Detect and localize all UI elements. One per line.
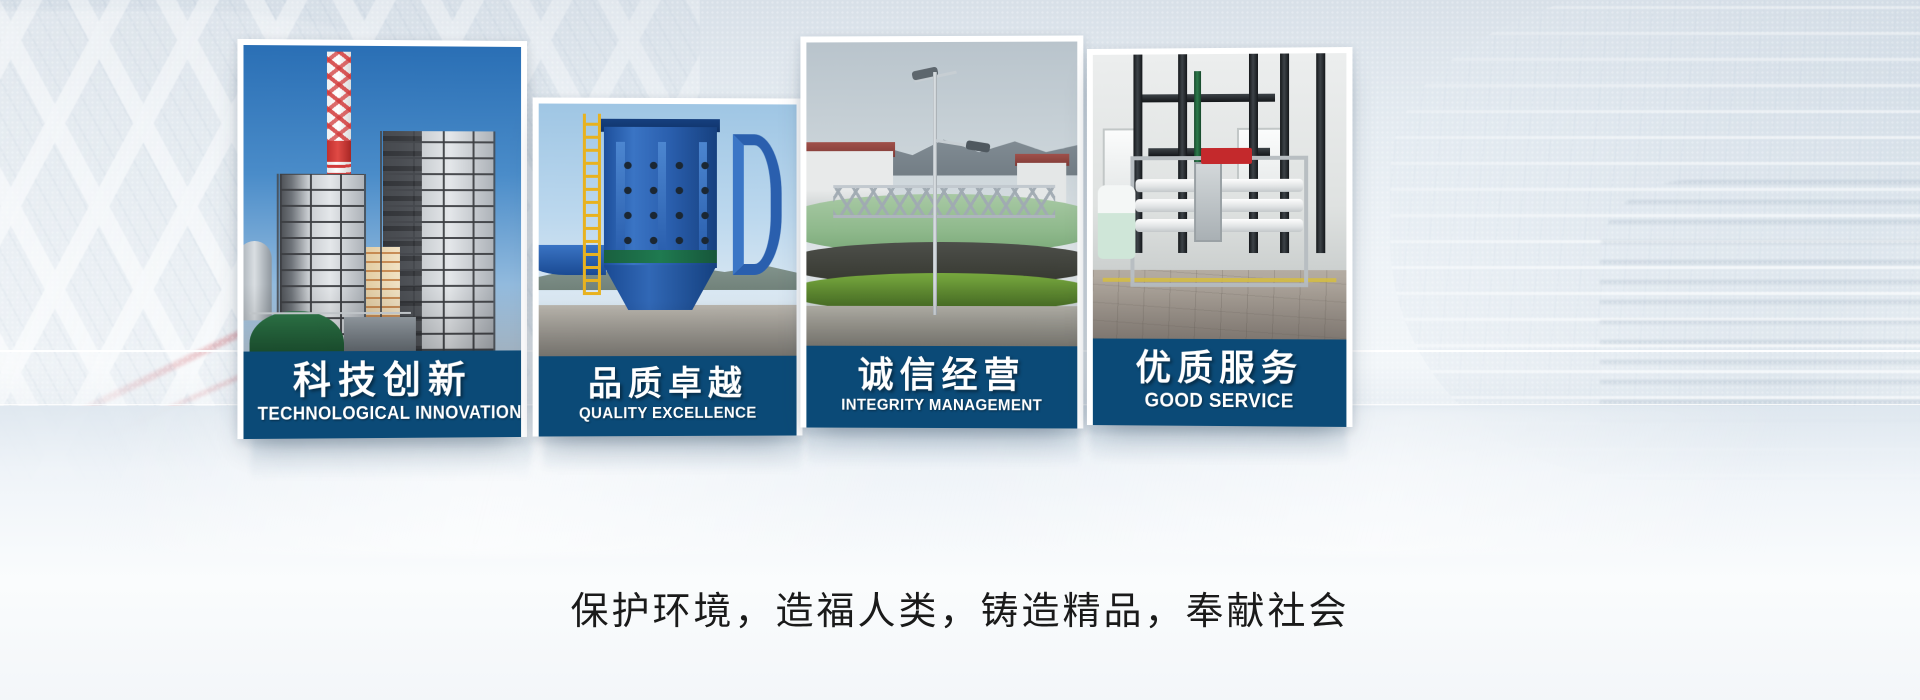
baghouse-dust-collector-photo [539,104,797,356]
grey-equipment-box [344,317,416,351]
control-panel [1194,162,1222,242]
banner-tagline: 保护环境，造福人类，铸造精品，奉献社会 [0,580,1920,635]
card-title-cn: 优质服务 [1099,347,1341,389]
value-card-good-service: 优质服务 GOOD SERVICE [1087,47,1353,427]
wastewater-clarifier-photo [806,42,1077,346]
chimney-pattern [327,52,351,144]
concrete-ground [539,305,797,356]
red-warning-sign [1201,148,1252,164]
company-values-banner: 科技创新 TECHNOLOGICAL INNOVATION [0,0,1920,700]
scraper-bridge-truss [833,185,1055,219]
caged-ladder [583,114,601,296]
riser-pipe [1316,53,1325,253]
card-title-cn: 品质卓越 [545,364,791,403]
card-title-en: GOOD SERVICE [1106,388,1333,413]
ro-membrane-skid-photo [1093,53,1347,339]
desulfurization-towers-photo [243,45,521,351]
value-card-technological-innovation: 科技创新 TECHNOLOGICAL INNOVATION [237,39,527,439]
scaffold-post [494,132,496,351]
card-caption: 品质卓越 QUALITY EXCELLENCE [539,355,797,436]
card-title-en: TECHNOLOGICAL INNOVATION [258,403,508,426]
value-card-quality-excellence: 品质卓越 QUALITY EXCELLENCE [533,97,803,436]
card-title-cn: 诚信经营 [812,354,1071,395]
silo-vessel [243,241,271,321]
concrete-apron [806,306,1077,346]
value-card-integrity-management: 诚信经营 INTEGRITY MANAGEMENT [800,35,1083,428]
card-title-en: INTEGRITY MANAGEMENT [820,395,1063,415]
card-caption: 诚信经营 INTEGRITY MANAGEMENT [806,345,1077,428]
background-building [366,247,399,326]
hopper-flange [603,250,716,263]
street-lamp-pole [933,72,937,315]
chimney-red-band [327,140,351,161]
pulse-valve-array [609,147,712,248]
card-caption: 科技创新 TECHNOLOGICAL INNOVATION [243,350,521,439]
chemical-dosing-tank [1098,185,1136,259]
card-title-en: QUALITY EXCELLENCE [552,403,783,423]
card-title-cn: 科技创新 [250,359,516,403]
outlet-duct-loop [732,134,781,275]
card-caption: 优质服务 GOOD SERVICE [1093,338,1347,427]
